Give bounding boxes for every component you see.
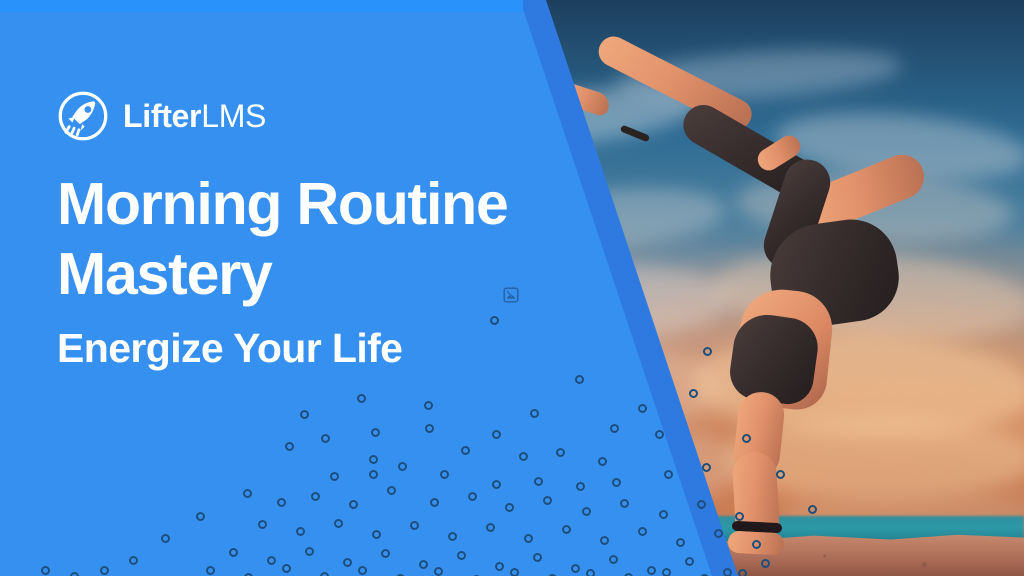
- slide-subheadline: Energize Your Life: [57, 325, 402, 372]
- broken-image-icon: [503, 287, 519, 303]
- hand: [727, 531, 784, 556]
- anklet: [620, 125, 650, 143]
- brand-name-light: LMS: [201, 98, 266, 134]
- rocket-in-circle-icon: [57, 90, 109, 142]
- slide-headline: Morning Routine Mastery: [57, 170, 557, 309]
- brand-logo[interactable]: LifterLMS: [57, 90, 266, 142]
- promo-slide: LifterLMS Morning Routine Mastery Energi…: [0, 0, 1024, 576]
- panel-top-band: [0, 0, 523, 12]
- brand-wordmark: LifterLMS: [123, 100, 266, 132]
- brand-name-bold: Lifter: [123, 98, 201, 134]
